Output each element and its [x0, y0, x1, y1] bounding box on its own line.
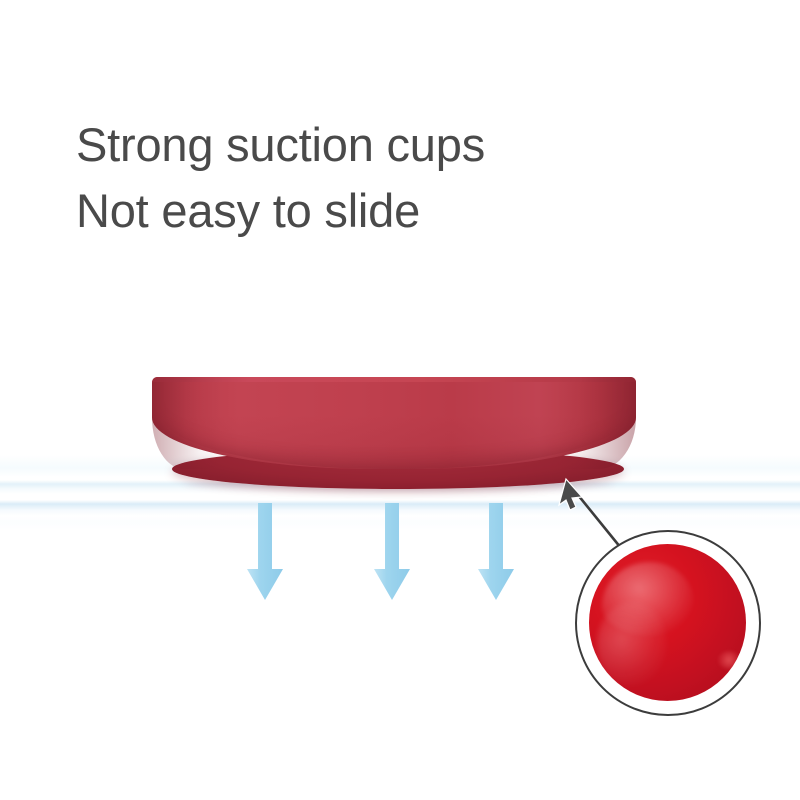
magnifier-ring [575, 530, 761, 716]
magnified-suction-cup [589, 544, 746, 701]
gloss-highlight-left [597, 602, 667, 686]
headline-line-2: Not easy to slide [76, 178, 636, 244]
pressure-arrow-3 [477, 503, 515, 601]
bowl-right-shading [556, 377, 636, 469]
headline-line-1: Strong suction cups [76, 112, 636, 178]
pressure-arrow-1 [246, 503, 284, 601]
headline-block: Strong suction cups Not easy to slide [76, 112, 636, 244]
gloss-highlight-right [718, 651, 740, 669]
pressure-arrow-2 [373, 503, 411, 601]
bowl-left-shading [152, 377, 222, 469]
bowl-body [152, 377, 636, 469]
product-infographic: Strong suction cups Not easy to slide [0, 0, 800, 800]
